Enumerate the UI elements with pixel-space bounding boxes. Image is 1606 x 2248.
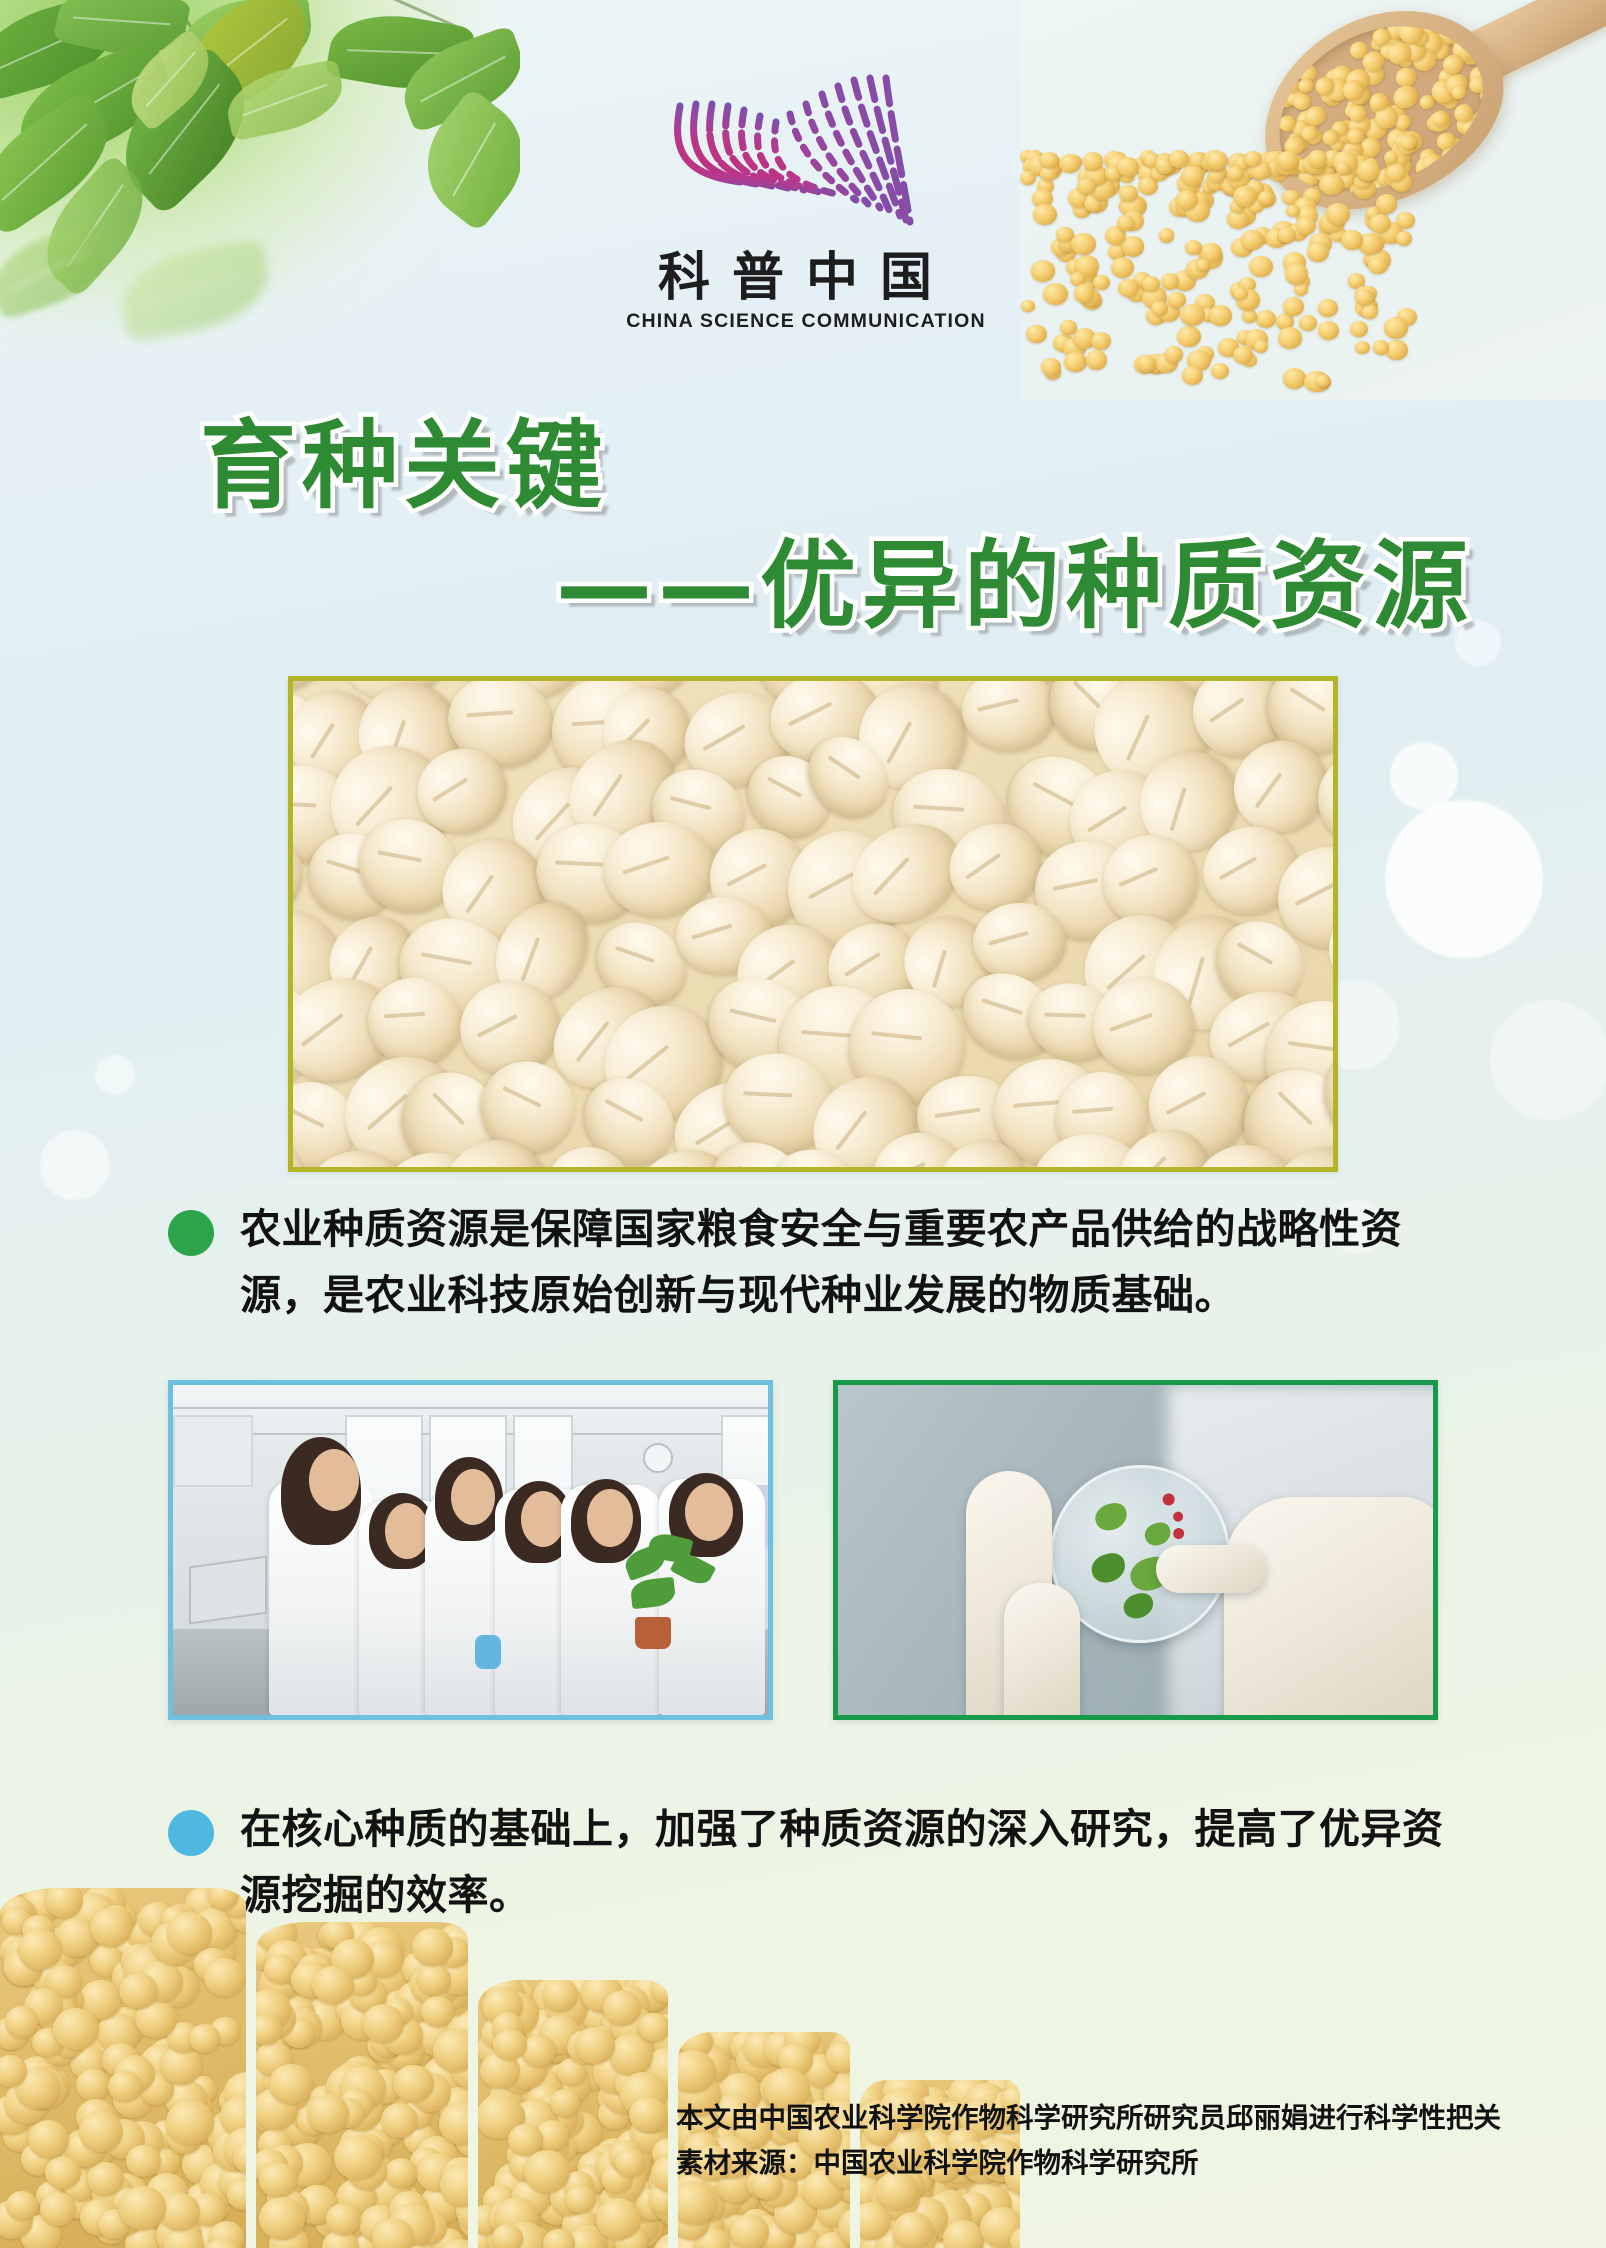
soybean-seed [297,1948,345,1993]
red-marker-dot [1161,1492,1176,1507]
soybean-seed [440,1991,468,2020]
soybean-seed [791,2183,830,2219]
soybean-seed [511,2179,551,2216]
soybean-seed [211,2111,244,2141]
soybean-stripes-band [0,1888,700,2248]
soybean-seed [908,2239,944,2248]
soybean-seed [389,2203,435,2246]
leaf [325,4,475,99]
soybean-seed [177,2209,210,2240]
soybean-seed [64,2129,105,2167]
soybean-seed [585,2038,632,2082]
soybean-seed [930,2190,972,2229]
soybean-seed [1350,321,1368,337]
soybean-seed [114,2055,155,2093]
soybean-seed [70,2148,106,2181]
soybean-seed [1091,332,1111,350]
blue-bullet [168,1810,214,1856]
soybean-seed [562,2208,599,2242]
soybean-seed [1086,350,1108,370]
soybean-seed [430,1987,468,2030]
poster-root: 科普中国 CHINA SCIENCE COMMUNICATION 育种关键 育种… [0,0,1606,2248]
soybean-seed [105,2007,147,2046]
soybean-seed [435,1954,468,1995]
soybean-seed [209,2221,245,2248]
soybean-seed [71,1893,117,1936]
soybean-seed [650,2166,668,2208]
soybean-stripe [478,1980,668,2248]
soybean-seed [629,2097,667,2132]
soybean-seed [678,2206,704,2237]
soybean-seed [678,2054,706,2087]
soybean-seed [256,2014,282,2045]
soybean-seed [24,2068,68,2108]
soybean-seed [731,2225,777,2248]
soybean-seed [219,2085,246,2117]
soybean-seed [267,2129,314,2173]
soybean-seed [507,2134,553,2177]
soybean-seed [1233,186,1257,207]
soybean-seed [958,2215,1004,2248]
soybean-seed [119,1973,158,2009]
soybean-seed [198,1933,237,1969]
soybean-seed [277,2078,311,2109]
soybean-seed [786,2230,831,2248]
soybean-seed [3,2119,38,2152]
soybean-seed [520,2068,564,2109]
soybean-seed [159,2230,200,2248]
soybean-seed [740,2209,773,2239]
soybean-seed [621,2031,654,2062]
soybean-seed [658,2141,668,2176]
soybean-seed [598,2080,639,2118]
soybean-seed [862,2205,893,2234]
soybean-seed [764,2032,804,2067]
soybean-seed [366,2069,404,2105]
soybean-seed [256,1989,291,2029]
soybean-seed [640,2036,668,2064]
soybean-seed [752,2234,792,2248]
soybean-seed [284,2120,317,2150]
soybean-seed [531,2094,579,2139]
soybean-seed [601,2164,633,2193]
soybean-seed [563,2171,595,2201]
soybean-seed [151,2120,182,2148]
soybean-seed [889,2212,929,2248]
soybean-seed [680,2032,713,2057]
soybean-seed [486,2216,531,2248]
soybean-seed [284,2143,331,2187]
soybean-seed [1006,2225,1020,2248]
soybean-seed [709,2239,746,2248]
soybean-seed [436,1923,468,1967]
soybean-seed [1227,166,1243,181]
soybean-seed [1242,309,1258,323]
soybean-seed [336,2179,377,2217]
soybean-seed [533,1980,580,2020]
soybean-seed [61,2187,96,2219]
soybean-seed [418,2022,459,2060]
soybean-seed [336,1995,368,2025]
soybean-seed [594,2138,636,2177]
soybean-seed [489,2200,527,2235]
soybean-seed [381,2020,418,2055]
soybean-seed [989,2234,1020,2248]
soybean-seed [189,2024,220,2053]
soybean-seed [991,2209,1020,2238]
soybean-seed [359,2205,400,2243]
leaf [115,28,225,133]
soybean-seed [955,2202,996,2240]
soybean-seed [4,1899,37,1930]
bokeh-circle [95,1055,135,1095]
soybean-seed [793,2238,838,2248]
soybean-seed [630,2031,668,2073]
soybean-seed [750,2220,790,2248]
soybean-seed [266,1940,307,1978]
soybean-seed [171,1937,205,1969]
soybean-seed [535,2120,569,2152]
soybean-seed [615,2227,648,2248]
soybean-seed [824,2186,850,2226]
soybean-seed [1161,273,1180,290]
soybean-seed [101,1905,131,1933]
soybean-seed [1355,289,1373,306]
soybean-seed [531,2094,562,2123]
soybean-seed [1196,259,1210,272]
soybean-seed [256,1999,296,2038]
soybean-seed [430,1972,468,2010]
soybean-seed [368,2032,400,2061]
soybean-seed [533,2093,573,2131]
soybean-seed [53,2027,86,2057]
kepu-fan-logo-icon [648,70,948,250]
soybean-seed [439,2239,468,2248]
soybean-seed [288,676,291,713]
soybean-seed [1308,150,1328,168]
soybean-seed [166,2100,214,2144]
soybean-seed [294,2187,335,2225]
soybean-seed [487,2240,527,2248]
point-2: 在核心种质的基础上，加强了种质资源的深入研究，提高了优异资源挖掘的效率。 [168,1796,1468,1929]
soybean-seed [504,2047,548,2088]
soybean-stripe [256,1922,468,2248]
soybean-seed [338,2089,383,2131]
green-leaves-decoration [0,0,520,380]
soybean-seed [741,2229,780,2248]
soybean-seed [1118,279,1138,297]
soybean-seed [204,1958,245,1997]
soybean-seed [964,2183,1011,2227]
soybean-seed [804,2231,844,2248]
soybean-seed [956,2192,991,2225]
kepu-china-logo: 科普中国 CHINA SCIENCE COMMUNICATION [596,70,1016,360]
soybean-seed [428,2025,468,2066]
soybean-seed [527,2084,563,2118]
soybean-seed [525,2009,567,2048]
spilled-beans-pile [1020,150,1420,400]
soybean-seed [530,2024,566,2057]
soybean-seed [497,2196,541,2237]
soybean-seed [524,2150,570,2193]
soybean-seed [40,2192,76,2226]
soybean-seed [102,1902,136,1934]
soybean-seed [1040,166,1057,181]
soybean-seed [21,2142,57,2176]
soybean-seed [609,2140,643,2171]
soybean-seed [5,2006,39,2037]
soybean-seed [32,1958,73,1996]
soybean-seed [307,1998,340,2029]
soybean-seed [416,2136,457,2175]
soybean-seed [513,2228,548,2248]
soybean-seed [604,2165,644,2202]
soybean-seed [30,1992,68,2027]
soybean-seed [830,2210,850,2239]
soybean-seed [1475,130,1503,157]
soybean-seed [256,2149,288,2184]
soybean-seed [723,2205,757,2237]
soybean-seed [934,2222,968,2248]
soybean-seed [203,2238,242,2248]
soybean-seed [615,2066,654,2103]
soybean-seed [0,1888,20,1908]
soybean-seed [389,2191,429,2228]
soybean-seed [568,2200,614,2243]
soybean-seed [496,2035,535,2071]
soybean-seed [0,2200,33,2238]
soybean-seed [894,2235,933,2248]
soybean-seed [582,1999,619,2033]
soybean-seed [125,2226,163,2248]
soybean-seed [815,2232,849,2248]
soybean-seed [614,1985,647,2015]
soybean-seed [1071,233,1095,255]
soybean-seed [414,2017,455,2055]
soybean-seed [256,2058,290,2097]
soybean-seed [32,2028,63,2057]
soybean-seed [630,2091,668,2133]
soybean-closeup-photo [288,676,1338,1172]
soybean-seed [655,2178,668,2217]
soybean-seed [422,2159,464,2198]
soybean-seed [614,2070,655,2108]
soybean-seed [655,2073,668,2111]
soybean-seed [919,2224,949,2248]
soybean-seed [558,2112,601,2152]
soybean-seed [589,2043,622,2073]
soybean-seed [256,2094,293,2133]
soybean-seed [798,2045,837,2081]
point-1-text: 农业种质资源是保障国家粮食安全与重要农产品供给的战略性资源，是农业科技原始创新与… [240,1196,1468,1329]
soybean-seed [478,2205,501,2235]
soybean-seed [364,2170,410,2213]
soybean-seed [441,2157,468,2196]
soybean-seed [785,2032,820,2057]
soybean-seed [1059,154,1081,174]
soybean-seed [550,2089,580,2117]
soybean-seed [510,2150,543,2180]
soybean-seed [972,902,1067,982]
soybean-seed [367,2030,401,2061]
soybean-seed [533,2239,567,2248]
soybean-seed [402,1951,439,1986]
twig [177,6,243,109]
soybean-seed [103,2119,146,2159]
soybean-seed [833,2056,850,2096]
soybean-seed [341,2000,384,2040]
soybean-seed [652,2138,668,2169]
soybean-seed [224,2072,246,2114]
soybean-seed [102,2195,146,2235]
soybean-seed [1294,283,1308,296]
soybean-seed [339,2125,385,2168]
soybean-seed [376,2035,416,2073]
soybean-seed [483,2185,516,2216]
soybean-seed [978,2222,1014,2248]
tissue-culture-callus [1121,1591,1156,1622]
soybean-seed [1355,341,1370,354]
soybean-seed [267,1961,298,1990]
brand-name-cn: 科普中国 [596,252,1016,304]
soybean-seed [730,2214,769,2248]
soybean-seed [524,1992,565,2030]
researcher-head [587,1489,633,1547]
soybean-seed [964,2205,1003,2241]
soybean-seed [768,2184,804,2218]
soybean-seed [513,2063,559,2106]
soybean-seed [530,2021,562,2051]
soybean-seed [395,1981,439,2022]
soybean-seed [543,1980,579,2012]
soybean-seed [263,2063,300,2097]
soybean-seed [6,2191,37,2220]
plant-pot [635,1617,671,1649]
soybean-seed [279,1946,322,1986]
soybean-seed [570,2212,613,2248]
soybean-seed [83,2103,120,2137]
soybean-seed [1357,160,1380,181]
soybean-seed [616,2030,652,2063]
soybean-seed [22,1915,54,1945]
tissue-culture-callus [1092,1500,1129,1533]
soybean-stripe [0,1888,246,2248]
soybean-seed [794,2238,829,2248]
soybean-seed [539,2015,581,2054]
soybean-seed [1384,317,1409,339]
soybean-seed [293,1952,338,1994]
soybean-seed [187,2076,217,2104]
soybean-seed [92,2174,135,2214]
soybean-seed [494,2162,540,2205]
soybean-seed [224,2127,246,2170]
soybean-seed [838,2207,850,2247]
soybean-seed [550,2179,589,2216]
researcher-head [309,1449,359,1511]
soybean-seed [774,2195,816,2234]
soybean-seed [113,2080,153,2118]
soybean-seed [688,2044,731,2084]
soybean-seed [363,1941,403,1978]
soybean-seed [583,2144,630,2188]
soybean-seed [609,2034,653,2075]
soybean-seed [723,2181,759,2215]
soybean-seed [943,2220,984,2248]
soybean-seed [523,2123,569,2166]
soybean-seed [1093,275,1110,290]
soybean-seed [440,2031,468,2068]
soybean-seed [653,2233,668,2248]
soybean-seed [438,1987,468,2015]
soybean-seed [1026,325,1047,343]
soybean-seed [173,2088,212,2124]
soybean-seed [0,2055,27,2087]
soybean-seed [1040,152,1059,169]
soybean-seed [1233,346,1253,364]
lab-cabinet [173,1415,253,1487]
soybean-seed [412,1928,453,1966]
soybean-seed [322,2230,359,2248]
soybean-seed [53,2023,83,2051]
soybean-seed [654,2238,668,2248]
soybean-seed [971,2225,1001,2248]
soybean-seed [575,2027,615,2064]
soybean-seed [909,2193,946,2227]
soybean-seed [702,2207,748,2248]
gloved-index-finger [1156,1545,1266,1593]
soybean-seed [64,2171,97,2201]
soybean-seed [561,2215,599,2248]
soybean-seed [598,2099,631,2130]
soybean-seed [362,2004,404,2043]
soybean-seed [636,2188,668,2220]
soybean-seed [534,2021,579,2063]
soybean-seed [370,2116,403,2146]
soybean-seed [15,2067,60,2109]
soybean-seed [326,2203,361,2235]
soybean-seed [692,2212,724,2242]
soybean-seed [233,2140,246,2174]
soybean-seed [28,2120,68,2158]
soybean-seed [4,1950,43,1986]
soybean-seed [707,2032,744,2059]
soybean-seed [372,2218,414,2248]
soybean-seed [664,676,777,694]
soybean-seed [381,1990,420,2027]
soybean-seed [1185,240,1202,255]
soybean-seed [50,2161,89,2197]
soybean-seed [454,2157,468,2190]
soybean-seed [836,2050,850,2092]
soybean-seed [569,2225,607,2248]
soybean-seed [651,1980,668,2003]
soybean-seed [534,1996,577,2036]
soybean-seed [136,1925,167,1954]
soybean-seed [76,2069,110,2101]
soybean-seed [581,1980,623,2013]
soybean-seed [576,2165,606,2193]
soybean-seed [599,2183,640,2222]
soybean-seed [1207,151,1228,170]
soybean-seed [500,1981,538,2016]
soybean-seed [763,2221,809,2248]
twig [335,0,464,31]
soybean-seed [278,2007,322,2048]
soybean-seed [307,2094,348,2132]
soybean-seed [267,2190,309,2229]
ceiling-line [173,1407,773,1409]
soybean-seed [303,1999,347,2040]
